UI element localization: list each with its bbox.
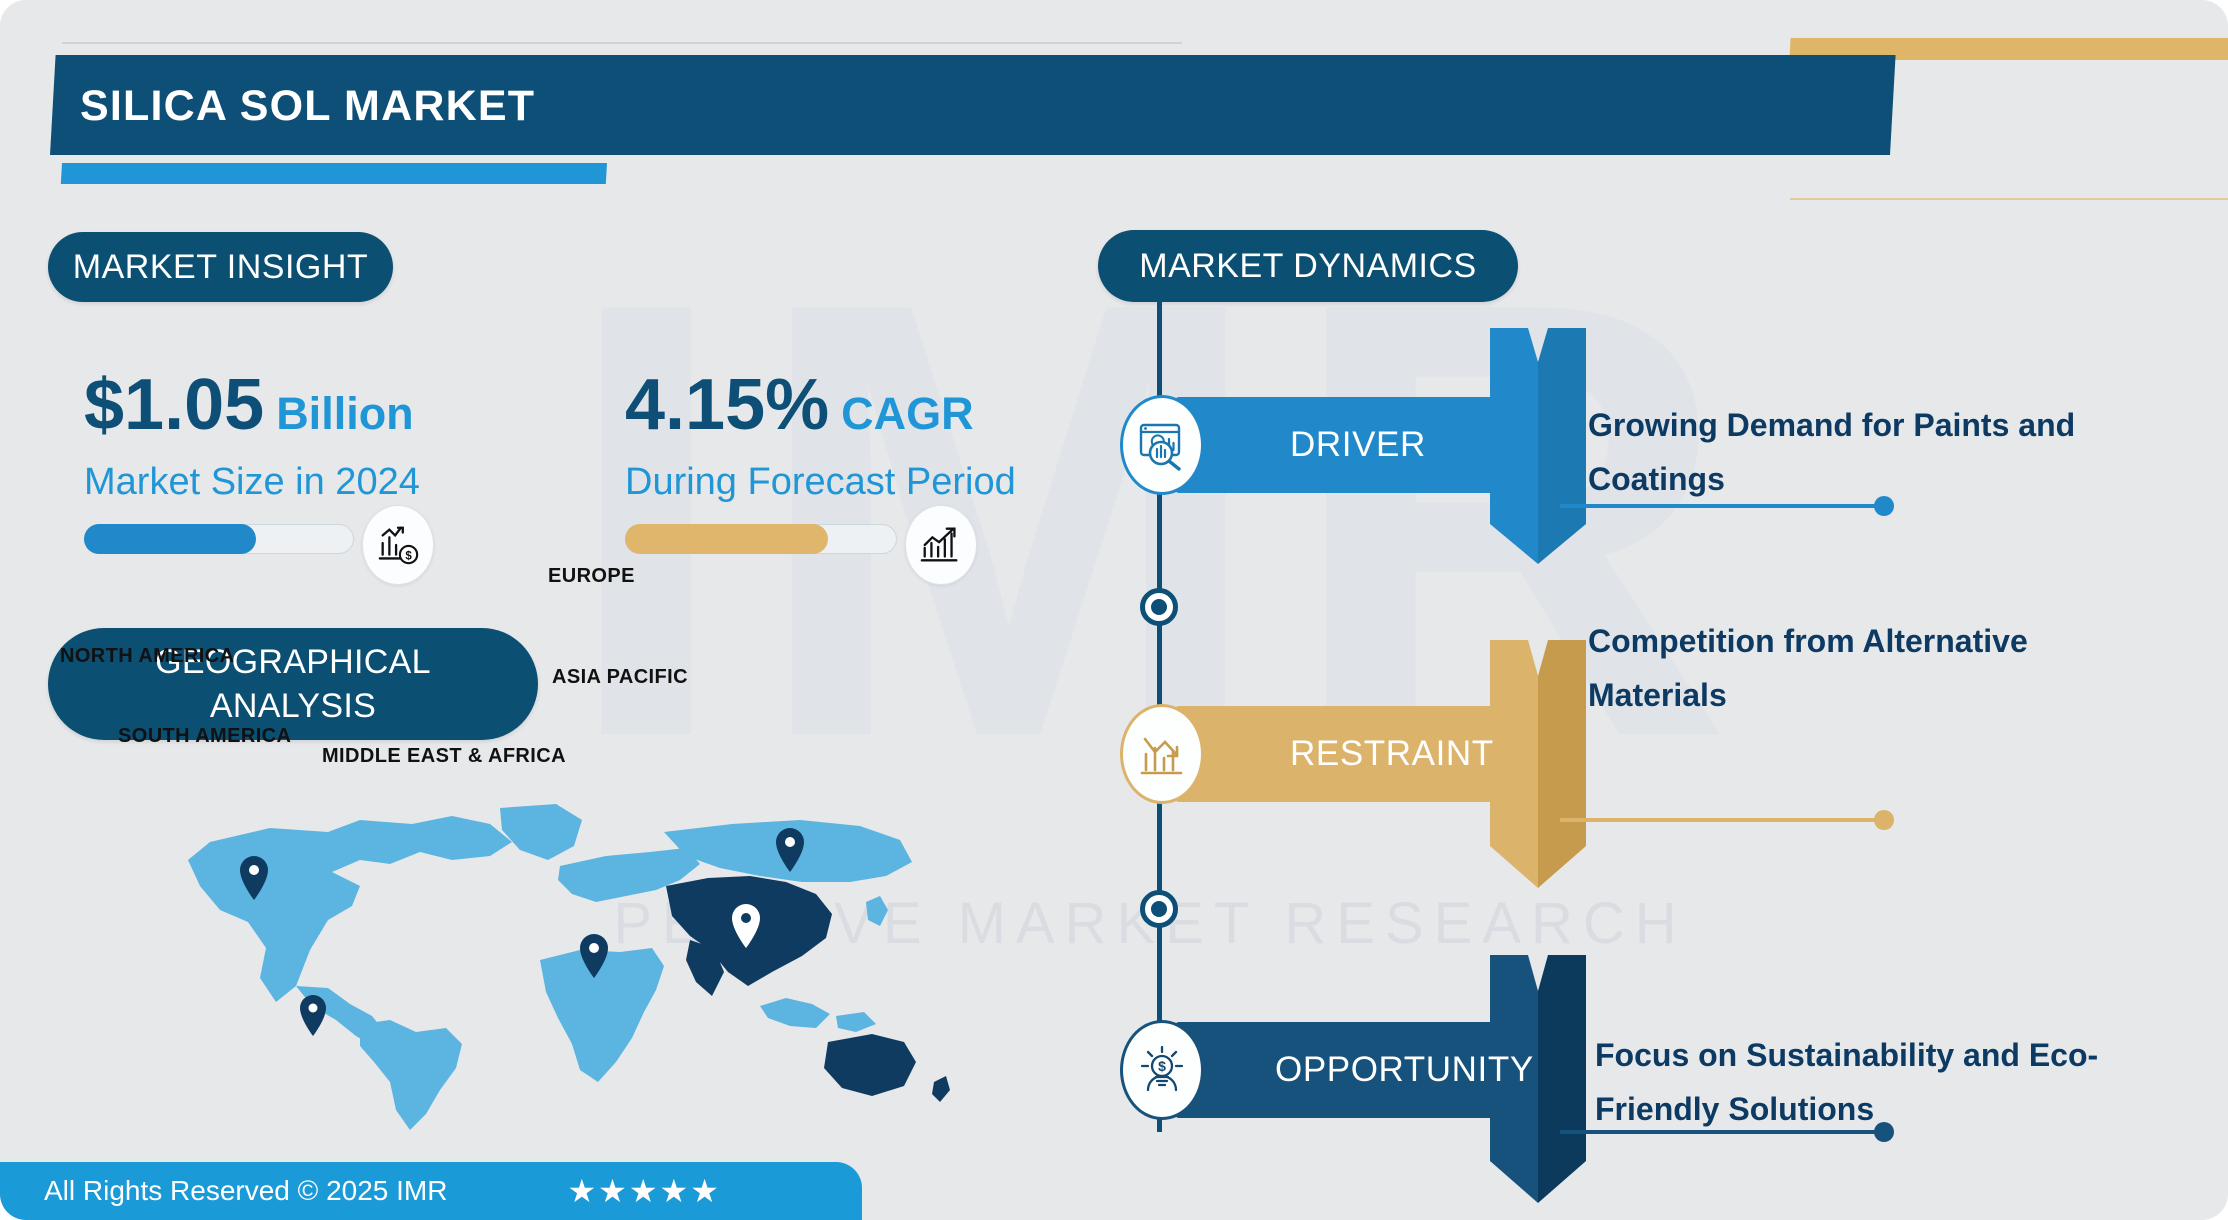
map-label-asia-pacific: ASIA PACIFIC	[552, 666, 688, 689]
geographical-label-line2: ANALYSIS	[210, 684, 376, 728]
bar-chart-dollar-icon: $	[362, 505, 434, 585]
header-gold-hairline	[1790, 198, 2228, 200]
market-dynamics-heading: MARKET DYNAMICS	[1098, 230, 1518, 302]
driver-label: DRIVER	[1290, 425, 1426, 465]
driver-ribbon	[1490, 328, 1586, 569]
map-label-europe: EUROPE	[548, 565, 635, 588]
infographic-canvas: IMR PECTIVE MARKET RESEARCH SILICA SOL M…	[0, 0, 2228, 1220]
market-insight-heading: MARKET INSIGHT	[48, 232, 393, 302]
page-title: SILICA SOL MARKET	[80, 78, 535, 134]
driver-description: Growing Demand for Paints and Coatings	[1588, 398, 2148, 506]
driver-leader-dot	[1874, 496, 1894, 516]
restraint-leader-line	[1560, 818, 1882, 822]
map-label-north-america: NORTH AMERICA	[60, 645, 234, 668]
kpi-cagr-progress	[625, 524, 935, 554]
restraint-ribbon	[1490, 640, 1586, 893]
svg-text:$: $	[1158, 1058, 1166, 1074]
svg-text:$: $	[405, 550, 412, 562]
market-insight-label: MARKET INSIGHT	[73, 248, 368, 287]
opportunity-label: OPPORTUNITY	[1275, 1050, 1534, 1090]
progress-fill	[625, 524, 828, 554]
opportunity-leader-line	[1560, 1130, 1882, 1134]
restraint-label: RESTRAINT	[1290, 734, 1494, 774]
map-label-middle-east-africa: MIDDLE EAST & AFRICA	[322, 745, 566, 768]
growth-chart-arrow-icon	[905, 505, 977, 585]
kpi-cagr-unit: CAGR	[841, 388, 974, 439]
driver-leader-line	[1560, 504, 1882, 508]
progress-fill	[84, 524, 256, 554]
driver-bar[interactable]: DRIVER	[1175, 397, 1495, 493]
world-map	[60, 790, 980, 1130]
header-hairline	[62, 42, 1182, 44]
map-label-south-america: SOUTH AMERICA	[118, 725, 291, 748]
lightbulb-dollar-icon: $	[1120, 1020, 1204, 1120]
opportunity-description: Focus on Sustainability and Eco-Friendly…	[1595, 1028, 2175, 1136]
kpi-market-size-value: $1.05	[84, 365, 264, 445]
header-blue-underbar	[61, 163, 607, 184]
declining-bar-chart-icon	[1120, 704, 1204, 804]
footer-bar: All Rights Reserved © 2025 IMR ★★★★★	[0, 1162, 862, 1220]
kpi-market-size-unit: Billion	[276, 388, 413, 439]
kpi-market-size-value-row: $1.05Billion	[84, 365, 420, 454]
opportunity-bar[interactable]: OPPORTUNITY	[1175, 1022, 1495, 1118]
timeline-node-2	[1140, 890, 1178, 928]
restraint-bar[interactable]: RESTRAINT	[1175, 706, 1495, 802]
kpi-cagr-value-row: 4.15%CAGR	[625, 365, 1016, 454]
kpi-market-size-progress	[84, 524, 394, 554]
kpi-market-size-caption: Market Size in 2024	[84, 454, 420, 510]
kpi-cagr: 4.15%CAGR During Forecast Period	[625, 365, 1016, 510]
kpi-cagr-caption: During Forecast Period	[625, 454, 1016, 510]
kpi-cagr-value: 4.15%	[625, 365, 829, 445]
restraint-leader-dot	[1874, 810, 1894, 830]
timeline-node-1	[1140, 588, 1178, 626]
dashboard-analytics-magnifier-icon	[1120, 395, 1204, 495]
restraint-description: Competition from Alternative Materials	[1588, 614, 2148, 722]
market-dynamics-label: MARKET DYNAMICS	[1139, 247, 1476, 286]
footer-copyright: All Rights Reserved © 2025 IMR	[44, 1175, 447, 1207]
kpi-market-size: $1.05Billion Market Size in 2024	[84, 365, 420, 510]
footer-rating-stars: ★★★★★	[567, 1172, 720, 1210]
opportunity-leader-dot	[1874, 1122, 1894, 1142]
